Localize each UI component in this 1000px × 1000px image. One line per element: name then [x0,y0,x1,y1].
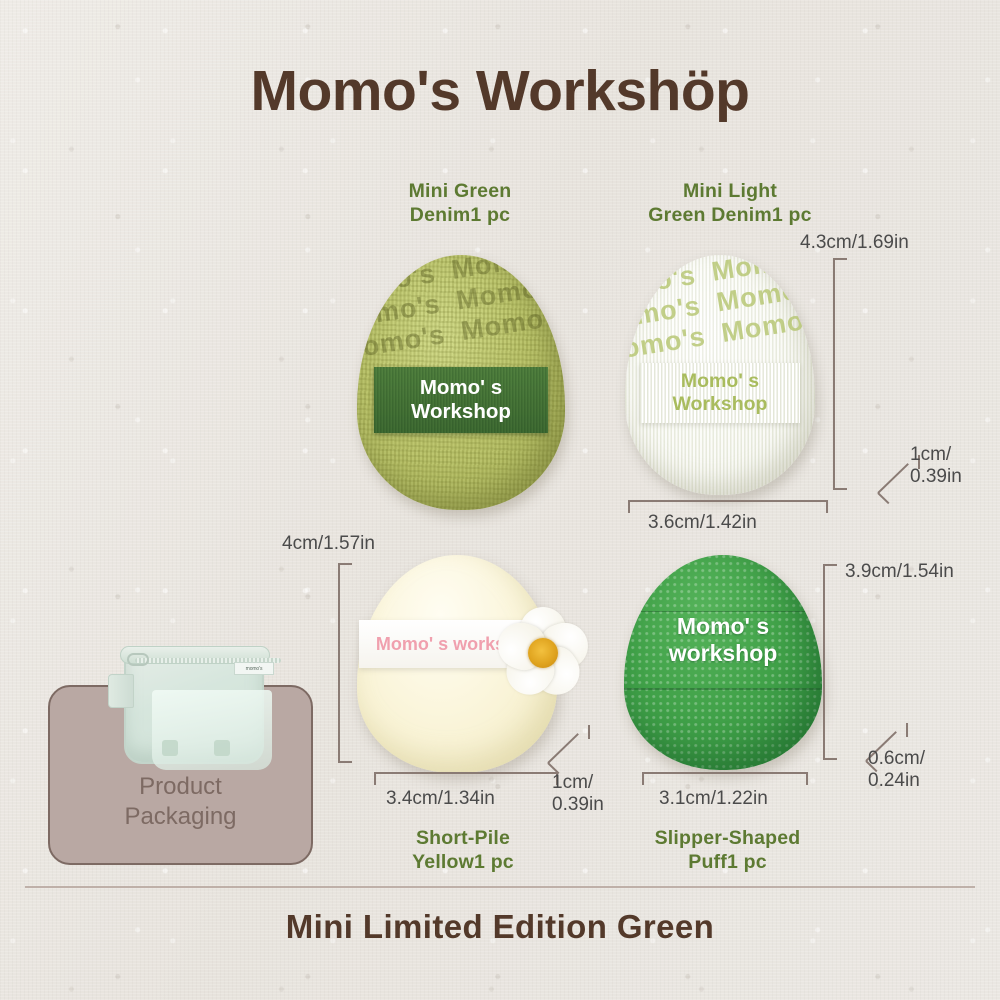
pouch-clear-window [152,690,272,770]
bracket-slipper-height [823,564,839,760]
pouch-side-strap [108,674,134,708]
bracket-yellow-thickness [548,722,592,766]
product-label-mini-green-denim: Mini Green Denim1 pc [350,180,570,228]
dimension-slipper-width: 3.1cm/1.22in [659,788,768,810]
dimension-light-denim-thickness: 1cm/ 0.39in [910,444,962,489]
brand-tag: momo's workshop [234,662,274,675]
ribbon-band-green-denim: Momo' s Workshop [374,367,549,433]
product-image-slipper-shaped-puff: Momo' s workshop [624,555,822,770]
product-label-slipper-shaped-puff: Slipper-Shaped Puff1 pc [610,827,845,875]
bracket-light-denim-height [833,258,849,490]
footer-divider [25,886,975,888]
flower-center [528,638,558,668]
infographic-canvas: Momo's Workshöp Mini Green Denim1 pc Min… [0,0,1000,1000]
dimension-light-denim-width: 3.6cm/1.42in [648,512,757,534]
dimension-light-denim-height: 4.3cm/1.69in [800,232,909,254]
dimension-yellow-height: 4cm/1.57in [282,533,375,555]
pouch-foot-left [162,740,178,756]
dimension-slipper-height: 3.9cm/1.54in [845,561,954,583]
product-image-mini-green-denim: Momo's Momo's Momo's Momo's Momo's Momo'… [357,255,565,510]
ribbon-band-light-denim: Momo' s Workshop [640,363,800,423]
bracket-slipper-width [642,772,808,786]
footer-caption: Mini Limited Edition Green [0,908,1000,946]
dimension-slipper-thickness: 0.6cm/ 0.24in [868,748,925,793]
bracket-yellow-height [338,563,354,763]
dimension-yellow-width: 3.4cm/1.34in [386,788,495,810]
seam-line-bottom [624,688,822,690]
packaging-caption: Product Packaging [48,772,313,832]
flower-decoration-icon [495,607,591,699]
embossed-text-slipper: Momo' s workshop [640,613,806,667]
product-label-mini-light-green-denim: Mini Light Green Denim1 pc [600,180,860,228]
zipper-pull-icon [127,653,149,666]
product-label-short-pile-yellow: Short-Pile Yellow1 pc [358,827,568,875]
product-image-mini-light-green-denim: Momo's Momo's Momo's Momo's Momo's Momo'… [625,255,815,495]
packaging-pouch-image: momo's workshop [108,636,280,766]
page-title: Momo's Workshöp [0,58,1000,124]
bracket-yellow-width [374,772,558,786]
product-image-short-pile-yellow: Momo' s workshop [357,555,557,773]
dimension-yellow-thickness: 1cm/ 0.39in [552,772,604,817]
pouch-foot-right [214,740,230,756]
